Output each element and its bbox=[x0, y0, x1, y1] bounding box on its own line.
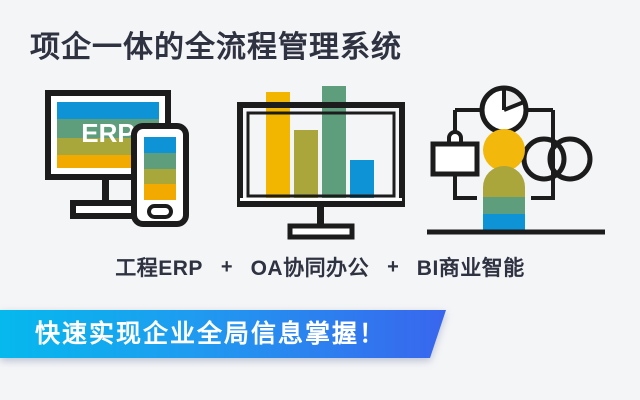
label-erp: 工程ERP bbox=[115, 252, 203, 282]
oa-bar-chart-monitor-icon bbox=[222, 80, 422, 240]
tagline-banner: 快速实现企业全局信息掌握！ bbox=[0, 310, 460, 358]
page-title: 项企一体的全流程管理系统 bbox=[30, 22, 402, 66]
erp-desktop-and-phone-icon: ERP bbox=[22, 80, 222, 240]
bi-icon-group bbox=[425, 80, 625, 240]
bi-business-intelligence-icon bbox=[425, 80, 625, 240]
venn-circles-icon bbox=[524, 139, 590, 179]
icons-row: ERP bbox=[0, 80, 640, 240]
poster-root: 项企一体的全流程管理系统 ERP bbox=[0, 0, 640, 400]
erp-screen-text: ERP bbox=[81, 118, 134, 148]
briefcase-icon bbox=[433, 132, 477, 174]
pie-chart-icon bbox=[482, 88, 526, 132]
label-plus-1: + bbox=[203, 256, 251, 279]
oa-bar-2 bbox=[294, 130, 318, 204]
label-bi: BI商业智能 bbox=[417, 252, 525, 282]
label-oa: OA协同办公 bbox=[251, 252, 370, 282]
oa-icon-group bbox=[222, 80, 422, 240]
erp-phone-screen-bands bbox=[144, 137, 176, 200]
erp-icon-group: ERP bbox=[22, 80, 222, 240]
erp-phone-home-button bbox=[149, 206, 171, 217]
oa-bar-1 bbox=[266, 92, 290, 204]
tagline-banner-text: 快速实现企业全局信息掌握！ bbox=[35, 310, 386, 358]
oa-monitor-frame bbox=[240, 105, 402, 204]
bi-person-figure bbox=[483, 129, 525, 230]
labels-row: 工程ERP + OA协同办公 + BI商业智能 bbox=[0, 250, 640, 284]
bi-person-head bbox=[483, 129, 525, 171]
label-plus-2: + bbox=[369, 256, 417, 279]
